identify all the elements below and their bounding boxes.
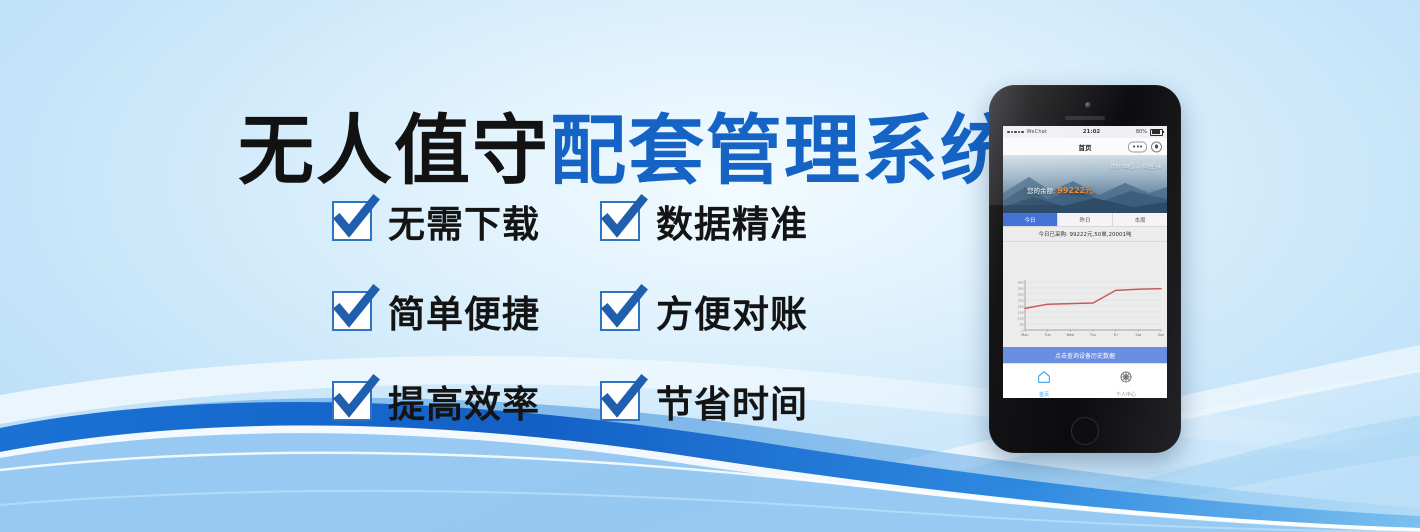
- svg-text:200: 200: [1018, 304, 1024, 308]
- checkbox-checked-icon: [332, 201, 372, 241]
- hero-banner: 您好!99园..., 欢迎回来 您的余额: 99222元: [1003, 156, 1167, 213]
- feature-label: 数据精准: [656, 194, 808, 248]
- nav-title: 首页: [1079, 142, 1092, 152]
- checkbox-checked-icon: [600, 201, 640, 241]
- svg-text:350: 350: [1018, 286, 1024, 290]
- close-circle-icon[interactable]: [1151, 141, 1162, 152]
- phone-mockup: WeChat 21:02 80% 首页 您好!9: [989, 85, 1181, 453]
- hero-welcome-text: 您好!99园..., 欢迎回来: [1111, 163, 1162, 170]
- feature-item: 节省时间: [600, 374, 868, 428]
- tab-week[interactable]: 本周: [1113, 213, 1167, 226]
- svg-text:150: 150: [1018, 310, 1024, 314]
- front-camera-icon: [1085, 102, 1091, 108]
- tab-today[interactable]: 今日: [1003, 213, 1058, 226]
- hero-balance-label: 您的余额:: [1027, 187, 1055, 195]
- line-chart: 050100150200250300350400MonTueWedThuFriS…: [1003, 242, 1167, 347]
- feature-list: 无需下载 数据精准 简单便捷 方便对账: [332, 176, 868, 446]
- feature-label: 无需下载: [388, 194, 540, 248]
- wechat-actions: [1128, 141, 1162, 152]
- status-bar: WeChat 21:02 80%: [1003, 126, 1167, 138]
- checkbox-checked-icon: [600, 381, 640, 421]
- svg-text:0: 0: [1022, 328, 1024, 332]
- tabbar-item-home[interactable]: 首页: [1003, 369, 1085, 398]
- summary-strip: 今日已采购: 99222元,50单,20001吨: [1003, 227, 1167, 242]
- period-tabs: 今日 昨日 本周: [1003, 213, 1167, 227]
- svg-text:100: 100: [1018, 316, 1024, 320]
- svg-text:Mon: Mon: [1021, 333, 1028, 337]
- tabbar-label: 首页: [1039, 391, 1049, 398]
- feature-item: 无需下载: [332, 194, 600, 248]
- feature-item: 提高效率: [332, 374, 600, 428]
- feature-item: 方便对账: [600, 284, 868, 338]
- phone-screen: WeChat 21:02 80% 首页 您好!9: [1003, 126, 1167, 398]
- feature-label: 提高效率: [388, 374, 540, 428]
- hero-balance: 您的余额: 99222元: [1027, 185, 1093, 196]
- svg-text:250: 250: [1018, 298, 1024, 302]
- nav-bar: 首页: [1003, 138, 1167, 156]
- tabbar-label: 个人中心: [1116, 391, 1136, 398]
- svg-text:Thu: Thu: [1089, 333, 1096, 337]
- svg-text:Fri: Fri: [1114, 333, 1118, 337]
- gear-icon: [1118, 369, 1134, 389]
- signal-dots-icon: [1007, 131, 1024, 134]
- tab-yesterday[interactable]: 昨日: [1058, 213, 1113, 226]
- feature-label: 简单便捷: [388, 284, 540, 338]
- bottom-tab-bar: 首页 个人中心: [1003, 363, 1167, 398]
- tabbar-item-profile[interactable]: 个人中心: [1085, 369, 1167, 398]
- feature-label: 方便对账: [656, 284, 808, 338]
- more-dots-icon[interactable]: [1128, 141, 1147, 152]
- checkbox-checked-icon: [332, 381, 372, 421]
- promo-banner: 无人值守配套管理系统 无需下载 数据精准: [0, 0, 1420, 532]
- battery-percent-label: 80%: [1136, 129, 1147, 135]
- history-query-button[interactable]: 点击查询设备历史数据: [1003, 347, 1167, 363]
- feature-label: 节省时间: [656, 374, 808, 428]
- hero-balance-value: 99222元: [1057, 186, 1093, 195]
- carrier-label: WeChat: [1027, 129, 1048, 135]
- battery-icon: [1150, 129, 1163, 136]
- home-icon: [1036, 369, 1052, 389]
- svg-text:50: 50: [1020, 322, 1024, 326]
- earpiece-speaker: [1065, 116, 1105, 120]
- svg-text:400: 400: [1018, 280, 1024, 284]
- svg-text:Sun: Sun: [1158, 333, 1164, 337]
- svg-text:Wed: Wed: [1067, 333, 1074, 337]
- checkbox-checked-icon: [600, 291, 640, 331]
- home-button[interactable]: [1071, 417, 1099, 445]
- svg-text:300: 300: [1018, 292, 1024, 296]
- status-time: 21:02: [1050, 129, 1133, 135]
- feature-item: 简单便捷: [332, 284, 600, 338]
- feature-item: 数据精准: [600, 194, 868, 248]
- svg-text:Sat: Sat: [1136, 333, 1142, 337]
- checkbox-checked-icon: [332, 291, 372, 331]
- svg-text:Tue: Tue: [1044, 333, 1051, 337]
